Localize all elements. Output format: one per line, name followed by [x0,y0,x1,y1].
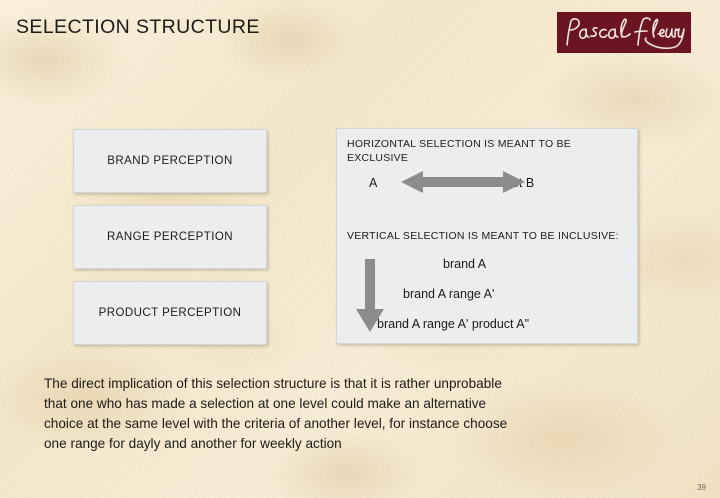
vertical-selection-heading: VERTICAL SELECTION IS MEANT TO BE INCLUS… [347,229,627,243]
brand-logo [557,12,691,53]
horizontal-selection-heading: HORIZONTAL SELECTION IS MEANT TO BE EXCL… [347,137,609,165]
horizontal-left-label: A [369,176,377,190]
pascal-fleury-signature-icon [562,15,686,51]
explanation-panel: HORIZONTAL SELECTION IS MEANT TO BE EXCL… [336,128,638,344]
slide-canvas: SELECTION STRUCTURE [0,0,720,498]
vertical-item-brand: brand A [443,257,486,271]
page-title: SELECTION STRUCTURE [16,16,260,39]
vertical-item-range: brand A range A' [403,287,494,301]
vertical-item-product: brand A range A' product A" [377,317,529,331]
body-paragraph: The direct implication of this selection… [44,374,574,454]
perception-box-label: BRAND PERCEPTION [107,155,232,167]
perception-box-label: RANGE PERCEPTION [107,231,233,243]
perception-box-product[interactable]: PRODUCT PERCEPTION [73,281,267,345]
perception-box-label: PRODUCT PERCEPTION [99,307,242,319]
double-headed-horizontal-arrow-icon [401,169,525,195]
page-number: 39 [697,483,706,492]
perception-box-brand[interactable]: BRAND PERCEPTION [73,129,267,193]
perception-box-range[interactable]: RANGE PERCEPTION [73,205,267,269]
